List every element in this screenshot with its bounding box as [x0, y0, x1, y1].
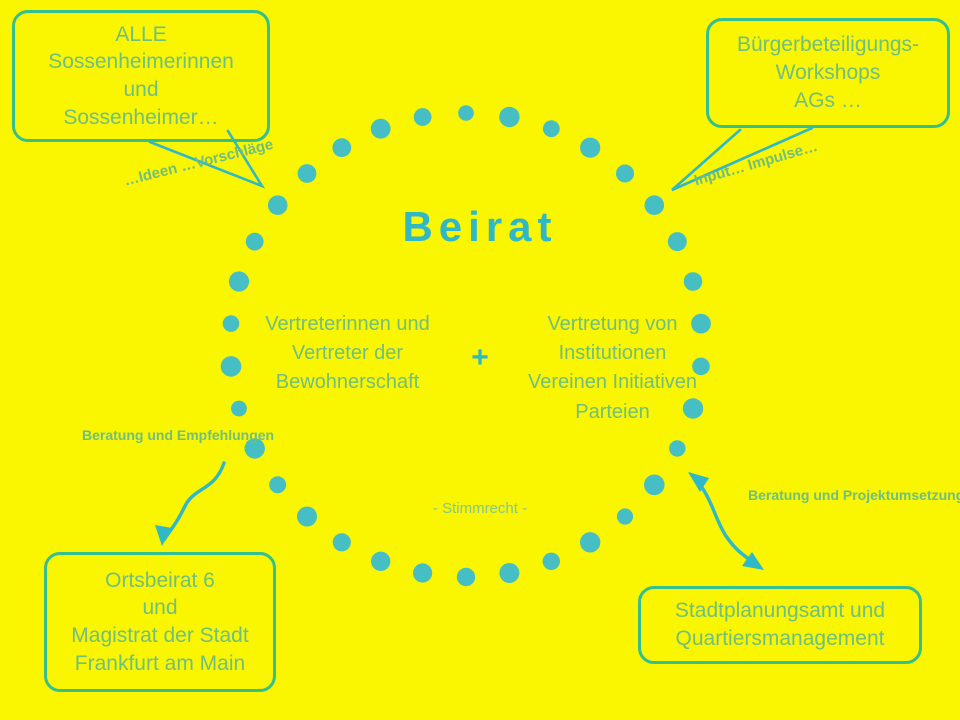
label-beratung-projekt-line-2: Projektumsetzung — [843, 487, 960, 503]
ring-dot — [333, 533, 351, 551]
label-ideen-vorschlaege: …Ideen …Vorschläge — [122, 135, 275, 192]
label-ideen-line-1: …Ideen — [122, 160, 179, 190]
label-input-line-2: Impulse… — [746, 138, 820, 174]
bubble-workshops-line-1: Bürgerbeteiligungs- — [719, 31, 937, 59]
ring-dot — [269, 476, 286, 493]
col-right-line-1: Vertretung — [547, 313, 639, 335]
ring-dot — [332, 138, 351, 157]
ring-dot — [644, 475, 665, 496]
ring-dot — [371, 119, 391, 139]
label-beratung-empfehlungen-line-2: Empfehlungen — [177, 427, 274, 443]
plus-icon: + — [458, 310, 502, 380]
label-beratung-projekt-line-1: Beratung und — [748, 487, 839, 503]
ring-dot — [580, 532, 600, 552]
bubble-alle-line-3: und — [25, 76, 257, 104]
ring-dot — [231, 401, 247, 417]
box-ortsbeirat-line-3: Magistrat der Stadt — [57, 622, 263, 650]
box-stadtplanung-line-1: Stadtplanungsamt und — [651, 597, 909, 625]
bubble-buergerbeteiligungs-workshops[interactable]: Bürgerbeteiligungs- Workshops AGs … — [706, 18, 950, 128]
beirat-composition: Vertreterinnen und Vertreter der Bewohne… — [255, 310, 705, 427]
bubble-alle-line-2: Sossenheimerinnen — [25, 48, 257, 76]
box-ortsbeirat-magistrat[interactable]: Ortsbeirat 6 und Magistrat der Stadt Fra… — [44, 552, 276, 692]
ring-dot — [616, 165, 634, 183]
ring-dot — [499, 107, 519, 127]
box-stadtplanung-line-2: Quartiersmanagement — [651, 625, 909, 653]
col-left-line-1: Vertreterinnen — [265, 313, 391, 335]
bubble-alle-line-1: ALLE — [25, 21, 257, 49]
col-right-line-3: Institutionen — [559, 342, 667, 364]
col-left-line-3: der — [374, 342, 403, 364]
ring-dot — [499, 563, 519, 583]
ring-dot — [223, 315, 240, 332]
ring-dot — [543, 553, 560, 570]
column-institutionen: Vertretung von Institutionen Vereinen In… — [520, 310, 705, 427]
ring-dot — [543, 120, 560, 137]
bubble-alle-sossenheimer[interactable]: ALLE Sossenheimerinnen und Sossenheimer… — [12, 10, 270, 142]
box-stadtplanungsamt-quartiersmanagement[interactable]: Stadtplanungsamt und Quartiersmanagement — [638, 586, 922, 664]
beirat-title: Beirat — [0, 203, 960, 251]
label-beratung-empfehlungen: Beratung und Empfehlungen — [82, 426, 210, 445]
bubble-workshops-line-3: AGs … — [719, 87, 937, 115]
ring-dot — [221, 356, 242, 377]
col-left-line-4: Bewohnerschaft — [276, 371, 419, 393]
col-right-line-4: Vereinen — [528, 371, 607, 393]
col-right-line-2: von — [645, 313, 677, 335]
diagram-canvas: ALLE Sossenheimerinnen und Sossenheimer…… — [0, 0, 960, 720]
label-beratung-empfehlungen-line-1: Beratung und — [82, 427, 173, 443]
ring-dot — [669, 440, 685, 456]
ring-dot — [458, 105, 474, 121]
label-input-impulse: Input… Impulse… — [692, 137, 820, 191]
ring-dot — [414, 108, 432, 126]
ring-dot — [371, 552, 390, 571]
box-ortsbeirat-line-1: Ortsbeirat 6 — [57, 567, 263, 595]
bubble-alle-line-4: Sossenheimer… — [25, 104, 257, 132]
box-ortsbeirat-line-2: und — [57, 594, 263, 622]
ring-dot — [457, 568, 475, 586]
bubble-workshops-line-2: Workshops — [719, 59, 937, 87]
col-right-line-5: Initiativen — [613, 371, 698, 393]
column-bewohnerschaft: Vertreterinnen und Vertreter der Bewohne… — [255, 310, 440, 398]
ring-dot — [229, 271, 249, 291]
ring-dot — [684, 272, 703, 291]
box-ortsbeirat-line-4: Frankfurt am Main — [57, 650, 263, 678]
ring-dot — [580, 138, 600, 158]
col-right-line-6: Parteien — [575, 401, 650, 423]
ring-dot — [298, 164, 317, 183]
ring-dot — [413, 563, 432, 582]
label-beratung-projektumsetzung: Beratung und Projektumsetzung — [748, 486, 914, 505]
label-input-line-1: Input… — [692, 159, 746, 190]
